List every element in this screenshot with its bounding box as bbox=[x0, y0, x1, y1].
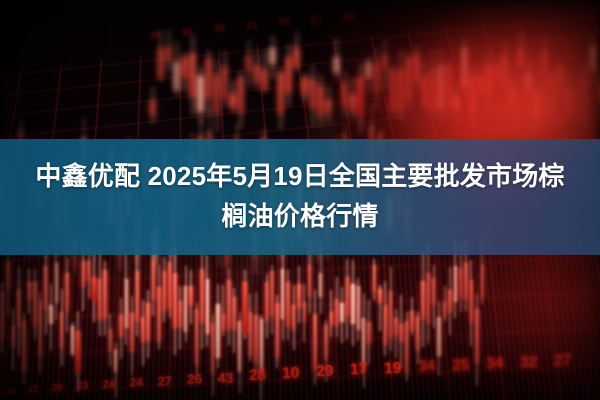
caption-band: 中鑫优配 2025年5月19日全国主要批发市场棕榈油价格行情 bbox=[0, 139, 600, 255]
page-title: 中鑫优配 2025年5月19日全国主要批发市场棕榈油价格行情 bbox=[30, 157, 570, 236]
banner-image: 25303221302740 1317302324242726432810291… bbox=[0, 0, 600, 400]
